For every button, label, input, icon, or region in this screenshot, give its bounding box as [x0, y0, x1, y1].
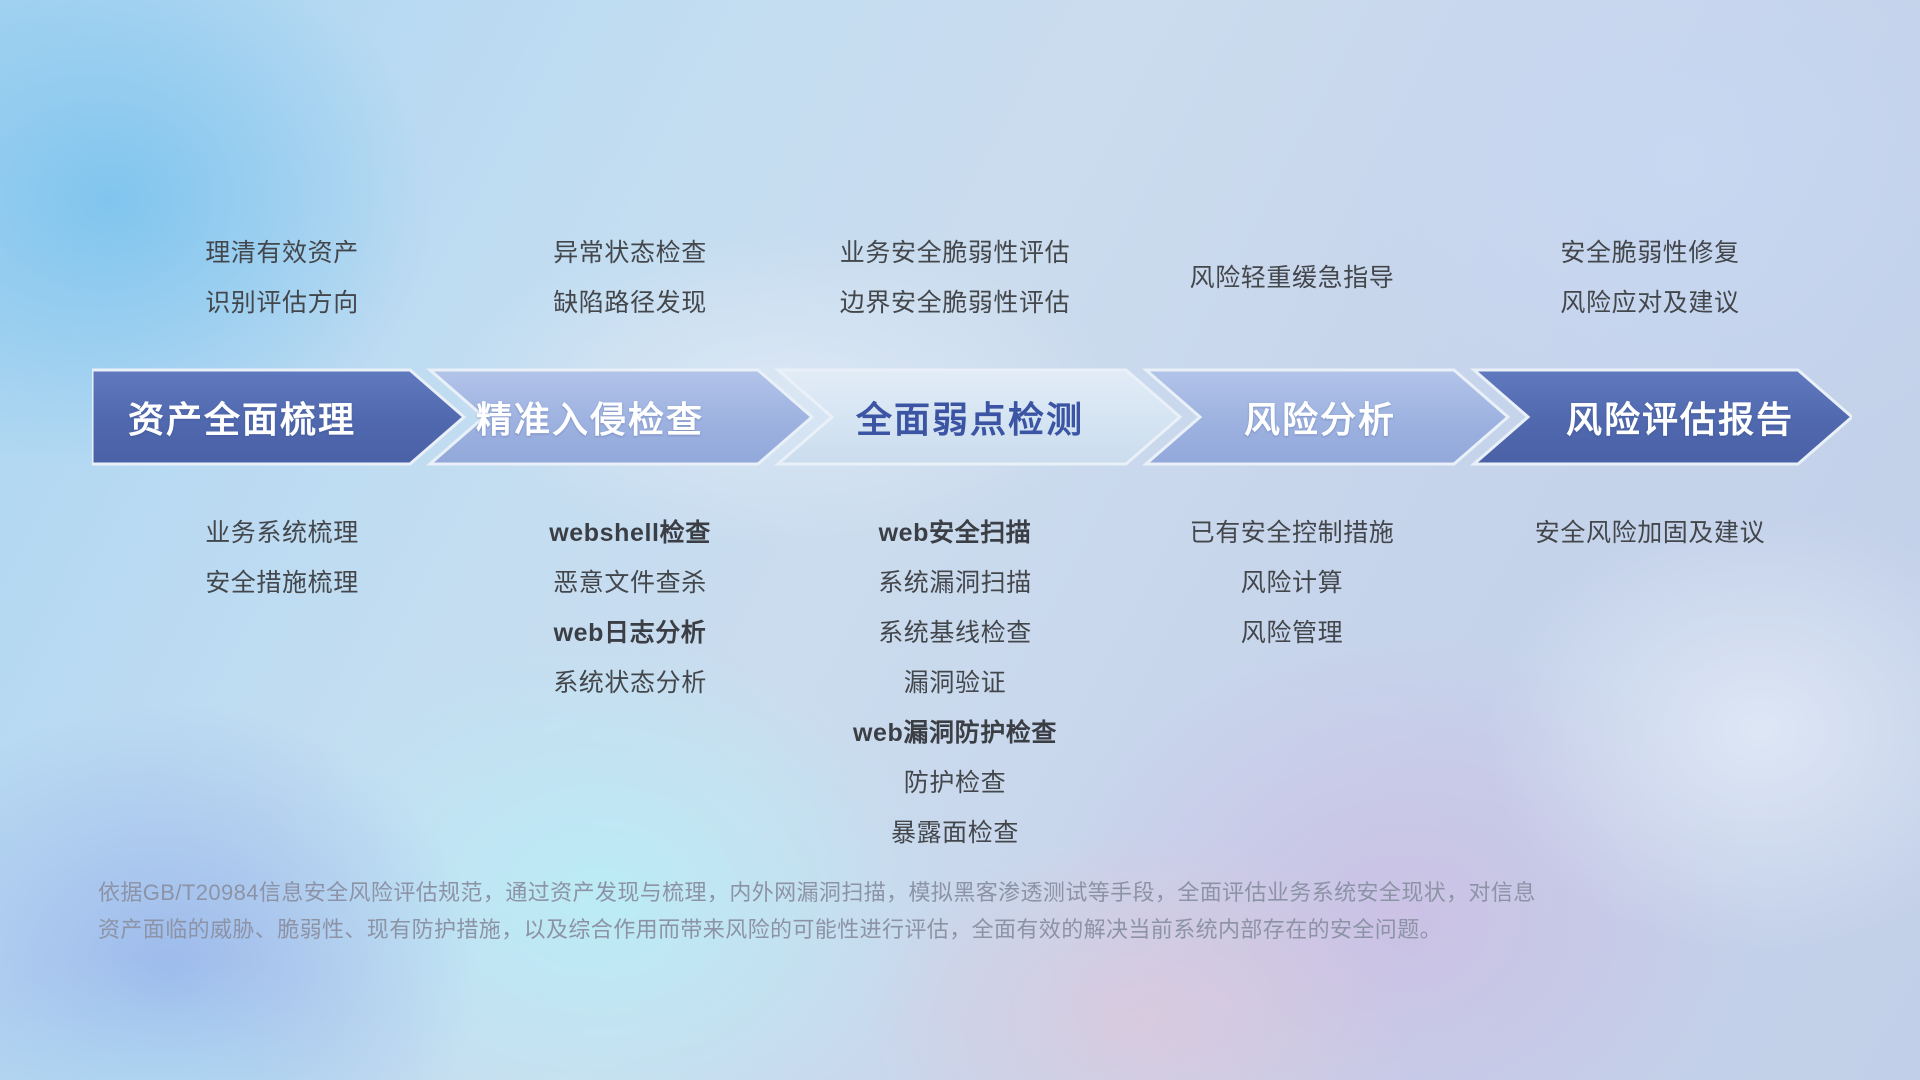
- step-5-bottom-captions: 安全风险加固及建议: [1470, 508, 1830, 558]
- caption-item: 安全脆弱性修复: [1560, 228, 1739, 278]
- caption-item: 风险计算: [1241, 558, 1343, 608]
- caption-item: web漏洞防护检查: [853, 708, 1057, 758]
- caption-item: 理清有效资产: [205, 228, 359, 278]
- caption-item: 风险管理: [1241, 608, 1343, 658]
- caption-item: 系统基线检查: [878, 608, 1032, 658]
- process-bottom-captions: 业务系统梳理 安全措施梳理 webshell检查 恶意文件查杀 web日志分析 …: [0, 508, 1920, 858]
- caption-item: 风险应对及建议: [1560, 278, 1739, 328]
- footer-line-2: 资产面临的威胁、脆弱性、现有防护措施，以及综合作用而带来风险的可能性进行评估，全…: [98, 911, 1638, 948]
- chevron-label-step-2[interactable]: 精准入侵检查: [440, 368, 740, 466]
- caption-item: 安全措施梳理: [205, 558, 359, 608]
- caption-item: 系统漏洞扫描: [878, 558, 1032, 608]
- chevron-label-step-1[interactable]: 资产全面梳理: [92, 368, 392, 466]
- caption-item: 业务安全脆弱性评估: [840, 228, 1070, 278]
- caption-item: 业务系统梳理: [205, 508, 359, 558]
- caption-item: web日志分析: [554, 608, 707, 658]
- process-top-captions: 理清有效资产 识别评估方向 异常状态检查 缺陷路径发现 业务安全脆弱性评估 边界…: [0, 228, 1920, 328]
- step-4-bottom-captions: 已有安全控制措施 风险计算 风险管理: [1142, 508, 1442, 658]
- step-3-top-captions: 业务安全脆弱性评估 边界安全脆弱性评估: [790, 228, 1120, 328]
- caption-item: 恶意文件查杀: [553, 558, 707, 608]
- step-1-bottom-captions: 业务系统梳理 安全措施梳理: [92, 508, 472, 608]
- caption-item: 识别评估方向: [205, 278, 359, 328]
- chevron-label-step-4[interactable]: 风险分析: [1180, 368, 1460, 466]
- step-2-bottom-captions: webshell检查 恶意文件查杀 web日志分析 系统状态分析: [480, 508, 780, 708]
- caption-item: webshell检查: [549, 508, 711, 558]
- caption-item: web安全扫描: [879, 508, 1032, 558]
- caption-item: 漏洞验证: [904, 658, 1006, 708]
- caption-item: 防护检查: [904, 758, 1006, 808]
- slide-canvas: 理清有效资产 识别评估方向 异常状态检查 缺陷路径发现 业务安全脆弱性评估 边界…: [0, 0, 1920, 1080]
- caption-item: 边界安全脆弱性评估: [840, 278, 1070, 328]
- caption-item: 已有安全控制措施: [1190, 508, 1395, 558]
- step-5-top-captions: 安全脆弱性修复 风险应对及建议: [1470, 228, 1830, 328]
- footer-line-1: 依据GB/T20984信息安全风险评估规范，通过资产发现与梳理，内外网漏洞扫描，…: [98, 874, 1638, 911]
- step-2-top-captions: 异常状态检查 缺陷路径发现: [480, 228, 780, 328]
- chevron-label-step-3[interactable]: 全面弱点检测: [800, 368, 1140, 466]
- step-4-top-captions: 风险轻重缓急指导: [1142, 228, 1442, 303]
- footer-description: 依据GB/T20984信息安全风险评估规范，通过资产发现与梳理，内外网漏洞扫描，…: [98, 874, 1638, 948]
- caption-item: 暴露面检查: [891, 808, 1019, 858]
- caption-item: 系统状态分析: [553, 658, 707, 708]
- step-3-bottom-captions: web安全扫描 系统漏洞扫描 系统基线检查 漏洞验证 web漏洞防护检查 防护检…: [790, 508, 1120, 858]
- caption-item: 异常状态检查: [553, 228, 707, 278]
- step-1-top-captions: 理清有效资产 识别评估方向: [92, 228, 472, 328]
- caption-item: 风险轻重缓急指导: [1190, 253, 1395, 303]
- caption-item: 缺陷路径发现: [553, 278, 707, 328]
- caption-item: 安全风险加固及建议: [1535, 508, 1765, 558]
- chevron-label-step-5[interactable]: 风险评估报告: [1520, 368, 1840, 466]
